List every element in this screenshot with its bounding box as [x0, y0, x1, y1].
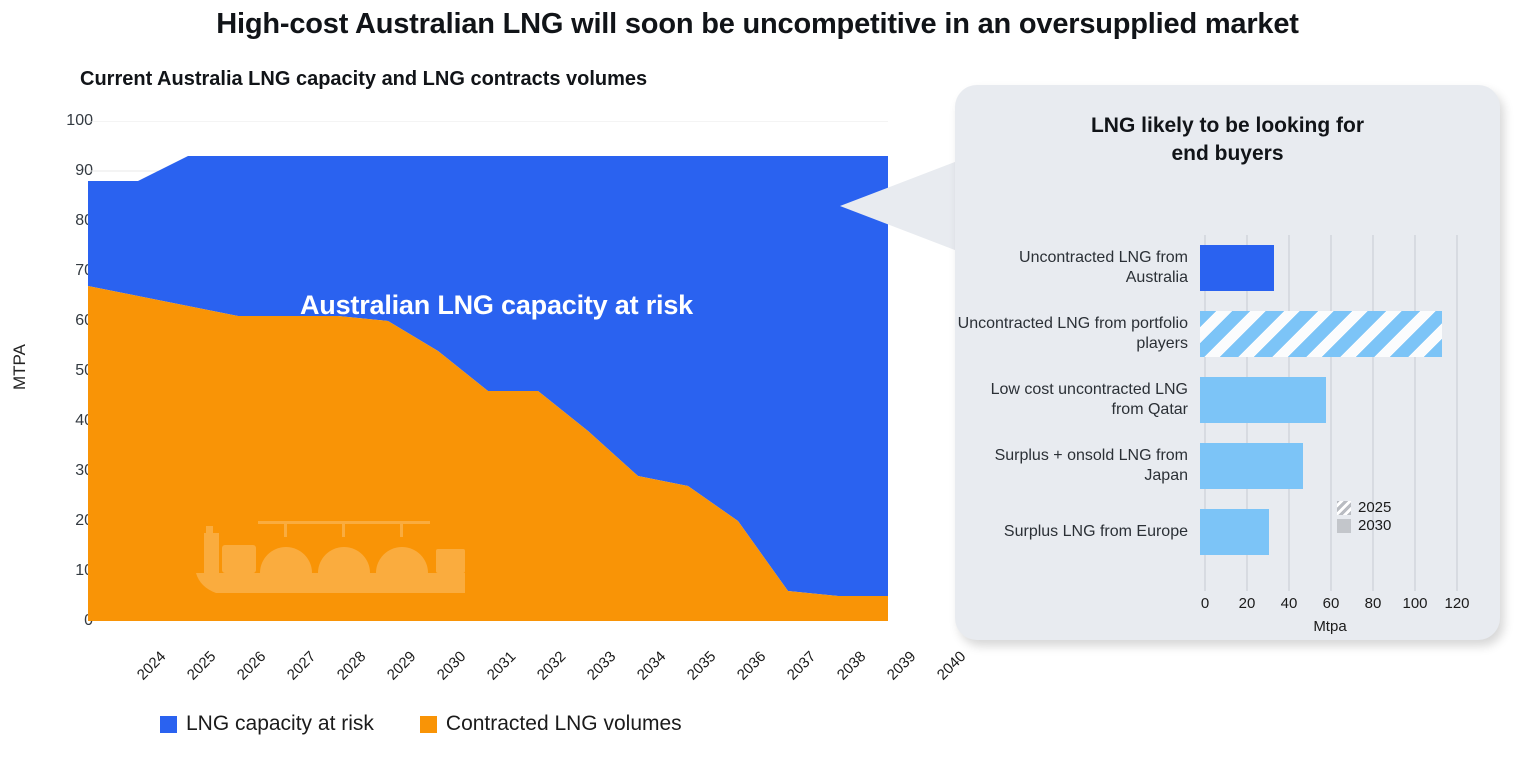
x-tick-2038: 2038: [834, 648, 870, 684]
x-tick-2027: 2027: [284, 648, 320, 684]
bar-fill-japan: [1200, 443, 1303, 489]
area-chart-legend: LNG capacity at risk Contracted LNG volu…: [160, 712, 682, 736]
area-annotation-capacity-at-risk: Australian LNG capacity at risk: [300, 290, 693, 321]
bar-row-japan[interactable]: Surplus + onsold LNG from Japan: [955, 433, 1500, 499]
x-tick-2028: 2028: [334, 648, 370, 684]
y-tick-40: 40: [33, 412, 93, 430]
bar-legend-label-2030: 2030: [1358, 517, 1391, 534]
x-tick-2037: 2037: [784, 648, 820, 684]
legend-swatch-blue-icon: [160, 716, 177, 733]
bar-fill-portfolio-players: [1200, 311, 1442, 357]
y-tick-80: 80: [33, 212, 93, 230]
bar-track-australia: [1200, 245, 1456, 291]
x-tick-2025: 2025: [184, 648, 220, 684]
x-tick-2039: 2039: [884, 648, 920, 684]
bar-fill-australia: [1200, 245, 1274, 291]
y-tick-10: 10: [33, 562, 93, 580]
x-tick-2035: 2035: [684, 648, 720, 684]
bar-label-europe: Surplus LNG from Europe: [955, 522, 1200, 542]
bar-fill-europe: [1200, 509, 1269, 555]
chart-subtitle: Current Australia LNG capacity and LNG c…: [80, 68, 647, 91]
plot-area: 2024 2025 2026 2027 2028 2029 2030 2031 …: [88, 121, 888, 621]
x-tick-2031: 2031: [484, 648, 520, 684]
y-tick-100: 100: [33, 112, 93, 130]
bar-x-tick-120: 120: [1444, 595, 1469, 612]
legend-item-capacity-at-risk[interactable]: LNG capacity at risk: [160, 712, 374, 736]
bar-legend-hatch-swatch-icon: [1337, 501, 1351, 515]
bar-legend-item-2030[interactable]: 2030: [1337, 517, 1391, 534]
area-chart: MTPA 0 10 20 30 40 50 60 70 80 90 100: [0, 100, 940, 720]
bar-legend-item-2025[interactable]: 2025: [1337, 499, 1391, 516]
legend-label-capacity-at-risk: LNG capacity at risk: [186, 712, 374, 736]
bar-row-portfolio-players[interactable]: Uncontracted LNG from portfolio players: [955, 301, 1500, 367]
y-tick-20: 20: [33, 512, 93, 530]
x-tick-2032: 2032: [534, 648, 570, 684]
bar-x-tick-60: 60: [1323, 595, 1340, 612]
bar-fill-qatar: [1200, 377, 1326, 423]
legend-label-contracted-volumes: Contracted LNG volumes: [446, 712, 682, 736]
bar-x-axis-label: Mtpa: [1204, 618, 1456, 635]
bar-track-qatar: [1200, 377, 1456, 423]
callout-title-line2: end buyers: [1171, 142, 1283, 165]
y-tick-90: 90: [33, 162, 93, 180]
bar-chart-legend: 2025 2030: [1337, 499, 1391, 535]
callout-panel: LNG likely to be looking for end buyers …: [955, 85, 1500, 640]
bar-track-europe: [1200, 509, 1456, 555]
legend-swatch-orange-icon: [420, 716, 437, 733]
bar-x-tick-40: 40: [1281, 595, 1298, 612]
bar-chart: Uncontracted LNG from Australia Uncontra…: [955, 235, 1500, 635]
x-tick-2024: 2024: [134, 648, 170, 684]
x-tick-2029: 2029: [384, 648, 420, 684]
page-title: High-cost Australian LNG will soon be un…: [0, 8, 1515, 41]
y-tick-60: 60: [33, 312, 93, 330]
bar-row-australia[interactable]: Uncontracted LNG from Australia: [955, 235, 1500, 301]
y-tick-30: 30: [33, 462, 93, 480]
bar-row-europe[interactable]: Surplus LNG from Europe: [955, 499, 1500, 565]
bar-legend-label-2025: 2025: [1358, 499, 1391, 516]
legend-item-contracted-volumes[interactable]: Contracted LNG volumes: [420, 712, 682, 736]
bar-legend-solid-swatch-icon: [1337, 519, 1351, 533]
callout-title: LNG likely to be looking for end buyers: [955, 112, 1500, 167]
bar-label-qatar: Low cost uncontracted LNG from Qatar: [955, 380, 1200, 420]
x-tick-2034: 2034: [634, 648, 670, 684]
y-tick-0: 0: [33, 612, 93, 630]
bar-label-australia: Uncontracted LNG from Australia: [955, 248, 1200, 288]
y-tick-70: 70: [33, 262, 93, 280]
bar-row-qatar[interactable]: Low cost uncontracted LNG from Qatar: [955, 367, 1500, 433]
bar-label-portfolio-players: Uncontracted LNG from portfolio players: [955, 314, 1200, 354]
callout-title-line1: LNG likely to be looking for: [1091, 114, 1364, 137]
callout-pointer-icon: [840, 160, 960, 252]
bar-x-tick-0: 0: [1201, 595, 1209, 612]
bar-label-japan: Surplus + onsold LNG from Japan: [955, 446, 1200, 486]
bar-x-tick-20: 20: [1239, 595, 1256, 612]
bar-x-tick-100: 100: [1402, 595, 1427, 612]
y-axis-label: MTPA: [10, 344, 30, 390]
bar-track-japan: [1200, 443, 1456, 489]
x-tick-2036: 2036: [734, 648, 770, 684]
x-tick-2033: 2033: [584, 648, 620, 684]
bar-x-tick-80: 80: [1365, 595, 1382, 612]
x-tick-2030: 2030: [434, 648, 470, 684]
area-plot-svg: [88, 121, 888, 621]
y-tick-50: 50: [33, 362, 93, 380]
x-tick-2040: 2040: [934, 648, 970, 684]
bar-track-portfolio-players: [1200, 311, 1456, 357]
x-tick-2026: 2026: [234, 648, 270, 684]
